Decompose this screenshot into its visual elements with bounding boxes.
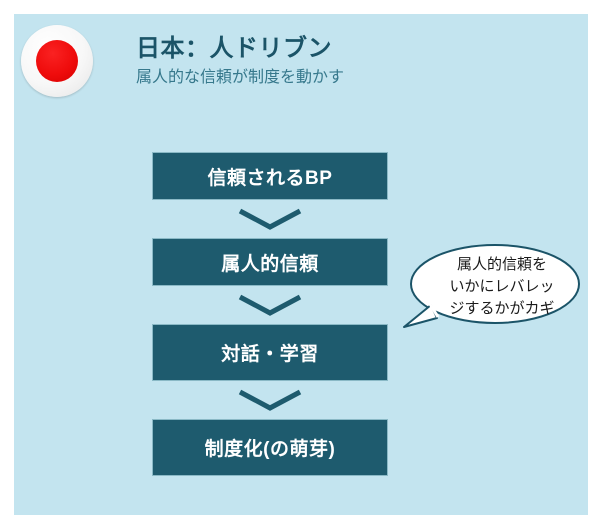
page-title: 日本：人ドリブン <box>136 37 344 61</box>
slide-header: 日本：人ドリブン 属人的な信頼が制度を動かす <box>14 16 434 106</box>
callout-line-1: 属人的信頼を <box>429 254 575 276</box>
flow-step-label: 対話・学習 <box>221 339 319 366</box>
callout-text: 属人的信頼を いかにレバレッ ジするかがカギ <box>429 254 575 320</box>
flow-step-label: 属人的信頼 <box>221 249 319 276</box>
flow-step-4[interactable]: 制度化(の萌芽) <box>152 419 388 476</box>
chevron-down-icon <box>152 286 388 324</box>
flag-red-disc <box>36 40 78 82</box>
slide-canvas: 日本：人ドリブン 属人的な信頼が制度を動かす 信頼されるBP 属人的信頼 対話・… <box>0 0 601 527</box>
japan-flag-icon <box>21 25 93 97</box>
callout-bubble[interactable]: 属人的信頼を いかにレバレッ ジするかがカギ <box>403 243 581 329</box>
callout-line-3: ジするかがカギ <box>429 298 575 320</box>
chevron-down-icon <box>152 381 388 419</box>
flow-step-1[interactable]: 信頼されるBP <box>152 152 388 200</box>
chevron-down-icon <box>152 200 388 238</box>
flow-step-label: 信頼されるBP <box>208 163 333 190</box>
flow-step-2[interactable]: 属人的信頼 <box>152 238 388 286</box>
callout-line-2: いかにレバレッ <box>429 276 575 298</box>
header-text-group: 日本：人ドリブン 属人的な信頼が制度を動かす <box>136 37 344 86</box>
flow-step-3[interactable]: 対話・学習 <box>152 324 388 381</box>
process-flow: 信頼されるBP 属人的信頼 対話・学習 制度化(の萌芽) <box>152 152 388 476</box>
flow-step-label: 制度化(の萌芽) <box>205 434 336 461</box>
page-subtitle: 属人的な信頼が制度を動かす <box>136 70 344 86</box>
